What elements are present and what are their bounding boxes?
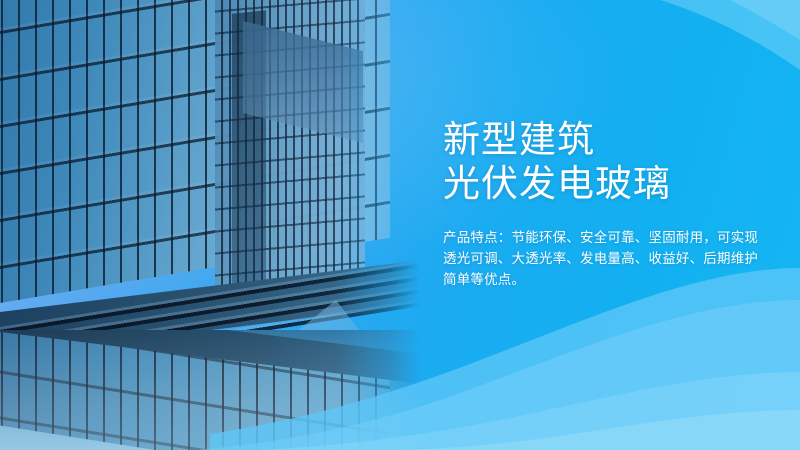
copy-block: 新型建筑 光伏发电玻璃 产品特点：节能环保、安全可靠、坚固耐用，可实现透光可调、… — [443, 118, 773, 290]
promo-banner: 新型建筑 光伏发电玻璃 产品特点：节能环保、安全可靠、坚固耐用，可实现透光可调、… — [0, 0, 800, 450]
headline-line-1: 新型建筑 — [443, 118, 773, 162]
headline-line-2: 光伏发电玻璃 — [443, 162, 773, 206]
product-description: 产品特点：节能环保、安全可靠、坚固耐用，可实现透光可调、大透光率、发电量高、收益… — [443, 227, 763, 290]
